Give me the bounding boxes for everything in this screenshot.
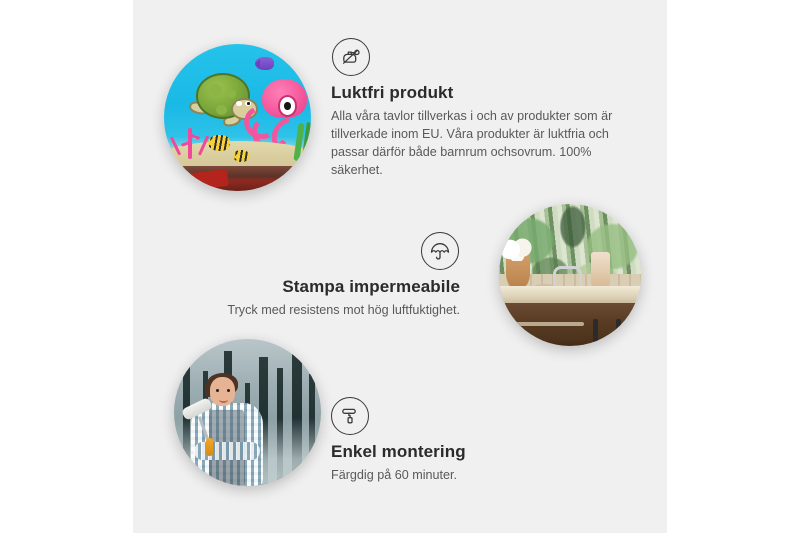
feature-odour-free: Luktfri produkt Alla våra tavlor tillver…: [331, 38, 629, 180]
feature-description: Alla våra tavlor tillverkas i och av pro…: [331, 108, 629, 180]
octopus-eye: [278, 95, 297, 117]
countertop: [499, 286, 641, 303]
bottle: [591, 252, 609, 286]
drawer-pull: [510, 322, 584, 326]
flowers: [500, 238, 534, 261]
cabinet-handle: [593, 319, 598, 344]
foreground-strip: [164, 166, 311, 191]
feature-title: Stampa impermeabile: [200, 277, 460, 297]
feature-easy-mounting: Enkel montering Färgdig på 60 minuter.: [331, 397, 591, 485]
crossed-arms: [194, 442, 260, 459]
wood-vanity-cabinet: [499, 303, 641, 346]
feature-title: Enkel montering: [331, 442, 591, 462]
faucet-icon: [553, 266, 582, 286]
purple-fish-icon: [255, 57, 274, 70]
feature-description: Tryck med resistens mot hög luftfuktighe…: [200, 302, 460, 320]
coral-icon: [170, 118, 214, 159]
feature-waterproof: Stampa impermeabile Tryck med resistens …: [200, 232, 460, 320]
feature-title: Luktfri produkt: [331, 83, 629, 103]
image-bathroom-tropical-wallpaper: [499, 204, 641, 346]
product-feature-panel: Luktfri produkt Alla våra tavlor tillver…: [0, 0, 800, 533]
image-decorator-forest: [174, 339, 321, 486]
paint-roller-icon: [331, 397, 369, 435]
umbrella-icon: [421, 232, 459, 270]
no-fragrance-icon: [332, 38, 370, 76]
image-underwater-scene: [164, 44, 311, 191]
decorator-person: [186, 377, 268, 486]
cabinet-handle: [616, 319, 621, 344]
paint-roller-grip: [206, 438, 213, 455]
striped-fish-icon: [233, 150, 249, 162]
feature-description: Färgdig på 60 minuter.: [331, 467, 591, 485]
